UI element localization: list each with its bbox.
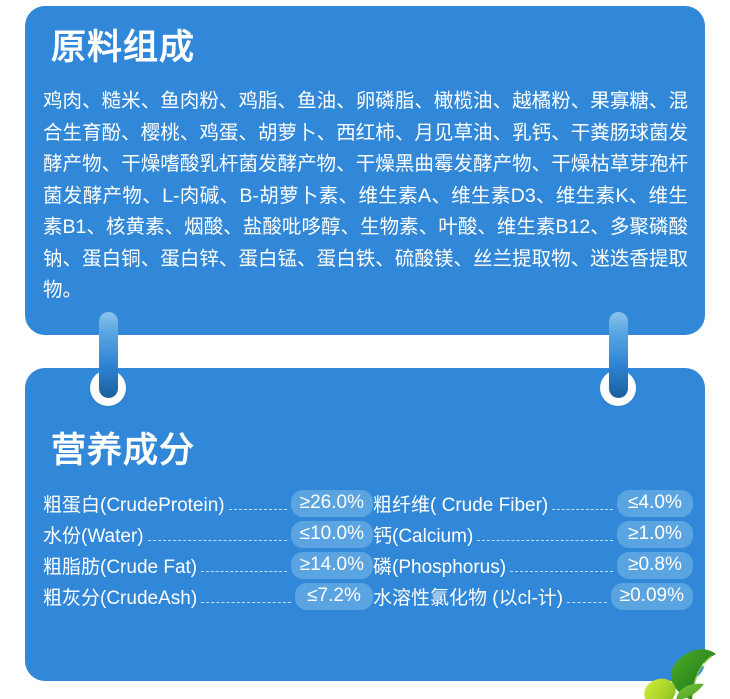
- ingredients-body-text: 鸡肉、糙米、鱼肉粉、鸡脂、鱼油、卵磷脂、橄榄油、越橘粉、果寡糖、混合生育酚、樱桃…: [43, 86, 688, 307]
- nutrition-value: ≥0.8%: [617, 552, 693, 579]
- leader-dots: [510, 570, 613, 572]
- nutrition-label: 钙(Calcium): [373, 521, 473, 548]
- nutrition-row: 磷(Phosphorus) ≥0.8%: [373, 550, 693, 581]
- nutrition-value: ≥1.0%: [617, 521, 693, 548]
- nutrition-row: 粗灰分(CrudeAsh) ≤7.2%: [43, 581, 373, 612]
- leader-dots: [567, 601, 607, 603]
- nutrition-label: 粗脂肪(Crude Fat): [43, 552, 197, 579]
- nutrition-card: 营养成分 粗蛋白(CrudeProtein) ≥26.0% 粗纤维( Crude…: [25, 368, 705, 681]
- leader-dots: [229, 508, 287, 510]
- nutrition-title: 营养成分: [51, 433, 195, 468]
- leader-dots: [201, 601, 291, 603]
- nutrition-label: 粗灰分(CrudeAsh): [43, 583, 197, 610]
- nutrition-row: 粗纤维( Crude Fiber) ≤4.0%: [373, 488, 693, 519]
- ingredients-card: 原料组成 鸡肉、糙米、鱼肉粉、鸡脂、鱼油、卵磷脂、橄榄油、越橘粉、果寡糖、混合生…: [25, 6, 705, 335]
- nutrition-value: ≥14.0%: [291, 552, 373, 579]
- ingredients-title: 原料组成: [51, 30, 195, 65]
- nutrition-row: 水份(Water) ≤10.0%: [43, 519, 373, 550]
- nutrition-value: ≥26.0%: [291, 490, 373, 517]
- nutrition-label: 水份(Water): [43, 521, 144, 548]
- nutrition-label: 粗纤维( Crude Fiber): [373, 490, 548, 517]
- connector-pin-left: [99, 312, 118, 398]
- nutrition-label: 磷(Phosphorus): [373, 552, 506, 579]
- connector-pin-right: [609, 312, 628, 398]
- nutrition-value: ≤7.2%: [295, 583, 373, 610]
- nutrition-row: 粗脂肪(Crude Fat) ≥14.0%: [43, 550, 373, 581]
- nutrition-value: ≤10.0%: [291, 521, 373, 548]
- nutrition-row: 水溶性氯化物 (以cl-计) ≥0.09%: [373, 581, 693, 612]
- leader-dots: [552, 508, 613, 510]
- nutrition-row: 粗蛋白(CrudeProtein) ≥26.0%: [43, 488, 373, 519]
- nutrition-value: ≤4.0%: [617, 490, 693, 517]
- leader-dots: [201, 570, 287, 572]
- nutrition-value: ≥0.09%: [611, 583, 693, 610]
- nutrition-table: 粗蛋白(CrudeProtein) ≥26.0% 粗纤维( Crude Fibe…: [43, 488, 693, 612]
- product-detail-page: 原料组成 鸡肉、糙米、鱼肉粉、鸡脂、鱼油、卵磷脂、橄榄油、越橘粉、果寡糖、混合生…: [0, 0, 730, 699]
- leader-dots: [477, 539, 613, 541]
- leader-dots: [148, 539, 287, 541]
- nutrition-row: 钙(Calcium) ≥1.0%: [373, 519, 693, 550]
- nutrition-label: 粗蛋白(CrudeProtein): [43, 490, 225, 517]
- nutrition-label: 水溶性氯化物 (以cl-计): [373, 583, 563, 610]
